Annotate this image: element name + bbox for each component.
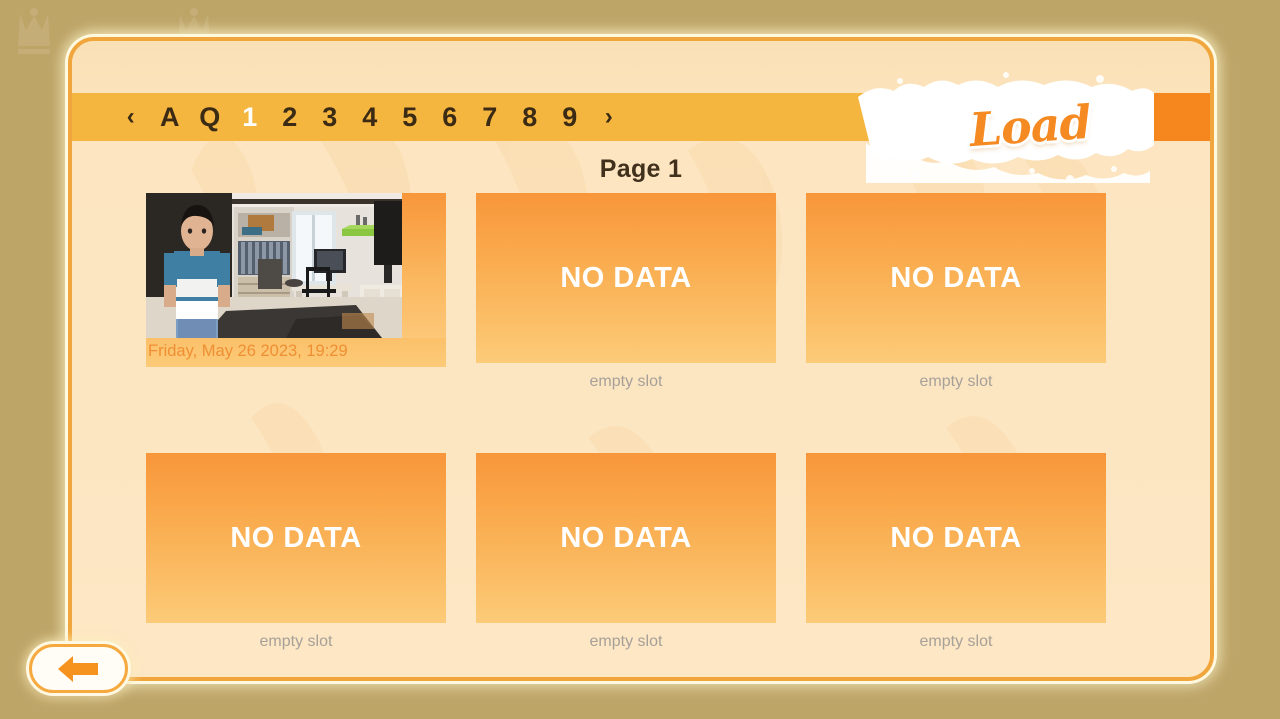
empty-slot-label: empty slot: [476, 633, 776, 651]
no-data-label: NO DATA: [560, 262, 691, 295]
save-slot-1[interactable]: Friday, May 26 2023, 19:29: [146, 193, 446, 391]
pager-page-5[interactable]: 5: [390, 95, 430, 139]
pager-page-8[interactable]: 8: [510, 95, 550, 139]
load-panel: ‹AQ123456789› Load Page 1: [68, 37, 1214, 681]
pager-auto[interactable]: A: [150, 95, 190, 139]
pager-next[interactable]: ›: [590, 95, 628, 139]
save-slot-preview: NO DATA: [146, 453, 446, 623]
empty-slot-label: empty slot: [146, 633, 446, 651]
pager-prev[interactable]: ‹: [112, 95, 150, 139]
save-slot-preview: NO DATA: [806, 193, 1106, 363]
no-data-label: NO DATA: [560, 522, 691, 555]
pager-page-1[interactable]: 1: [230, 95, 270, 139]
pager: ‹AQ123456789›: [72, 95, 628, 139]
save-slot-preview: NO DATA: [476, 453, 776, 623]
pager-page-9[interactable]: 9: [550, 95, 590, 139]
page-title: Page 1: [72, 155, 1210, 184]
save-slot-6[interactable]: NO DATAempty slot: [806, 453, 1106, 651]
load-game-screen: ‹AQ123456789› Load Page 1: [0, 0, 1280, 719]
empty-slot-label: empty slot: [806, 373, 1106, 391]
no-data-label: NO DATA: [890, 262, 1021, 295]
save-slot-2[interactable]: NO DATAempty slot: [476, 193, 776, 391]
navbar-accent-block: [910, 93, 1210, 141]
pager-page-7[interactable]: 7: [470, 95, 510, 139]
save-slot-4[interactable]: NO DATAempty slot: [146, 453, 446, 651]
empty-slot-label: empty slot: [806, 633, 1106, 651]
no-data-label: NO DATA: [230, 522, 361, 555]
no-data-label: NO DATA: [890, 522, 1021, 555]
empty-slot-label: empty slot: [476, 373, 776, 391]
save-timestamp: Friday, May 26 2023, 19:29: [146, 338, 446, 367]
save-slot-preview: NO DATA: [476, 193, 776, 363]
pager-quick[interactable]: Q: [190, 95, 230, 139]
pager-page-3[interactable]: 3: [310, 95, 350, 139]
save-slot-5[interactable]: NO DATAempty slot: [476, 453, 776, 651]
pager-page-6[interactable]: 6: [430, 95, 470, 139]
save-slot-grid: Friday, May 26 2023, 19:29NO DATAempty s…: [72, 193, 1210, 651]
save-slot-preview: NO DATA: [806, 453, 1106, 623]
back-button[interactable]: [29, 644, 128, 693]
save-slot-preview: [146, 193, 446, 338]
pager-navbar: ‹AQ123456789›: [72, 93, 1210, 141]
pager-page-2[interactable]: 2: [270, 95, 310, 139]
arrow-left-icon: [56, 654, 102, 684]
save-slot-3[interactable]: NO DATAempty slot: [806, 193, 1106, 391]
pager-page-4[interactable]: 4: [350, 95, 390, 139]
save-thumbnail-image: [146, 193, 402, 338]
